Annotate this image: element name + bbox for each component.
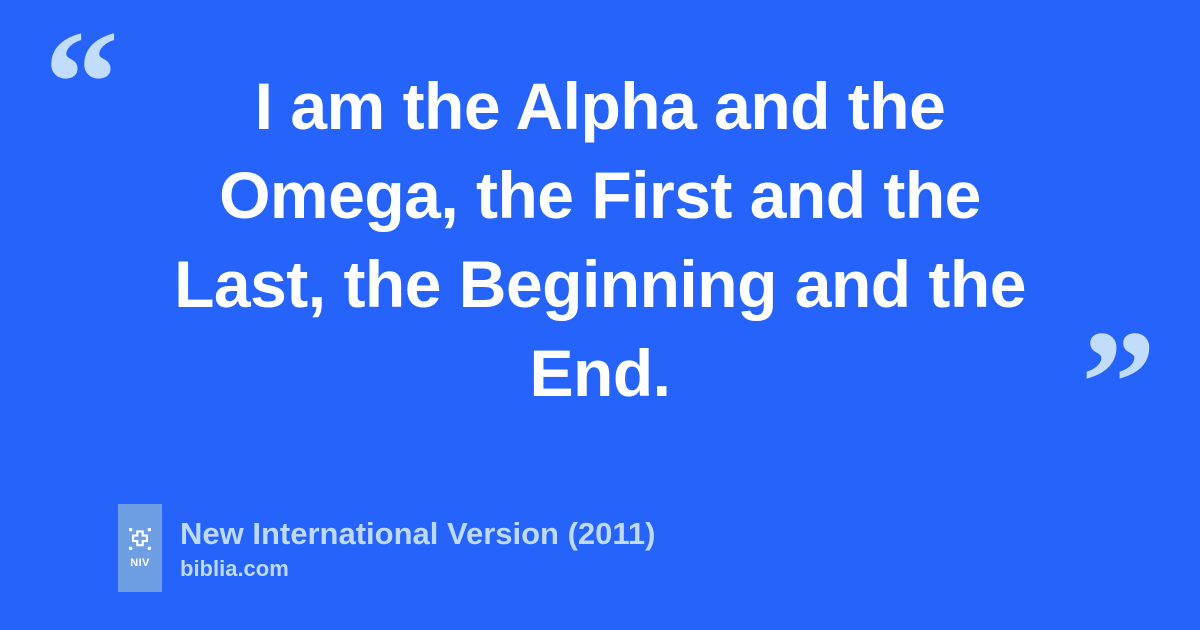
source-url[interactable]: biblia.com: [180, 554, 656, 584]
attribution-block: NIV New International Version (2011) bib…: [118, 504, 656, 592]
niv-cross-icon: [128, 527, 152, 551]
niv-badge: NIV: [118, 504, 162, 592]
quote-line: End.: [140, 329, 1060, 418]
bible-version-title: New International Version (2011): [180, 514, 656, 554]
quote-text-block: I am the Alpha and the Omega, the First …: [140, 62, 1060, 418]
attribution-text: New International Version (2011) biblia.…: [180, 504, 656, 592]
quote-line: Last, the Beginning and the: [140, 240, 1060, 329]
open-quote-icon: “: [44, 8, 119, 158]
quote-card: “ I am the Alpha and the Omega, the Firs…: [0, 0, 1200, 630]
quote-line: Omega, the First and the: [140, 151, 1060, 240]
quote-line: I am the Alpha and the: [140, 62, 1060, 151]
close-quote-icon: ”: [1081, 308, 1156, 458]
niv-badge-label: NIV: [130, 558, 150, 569]
